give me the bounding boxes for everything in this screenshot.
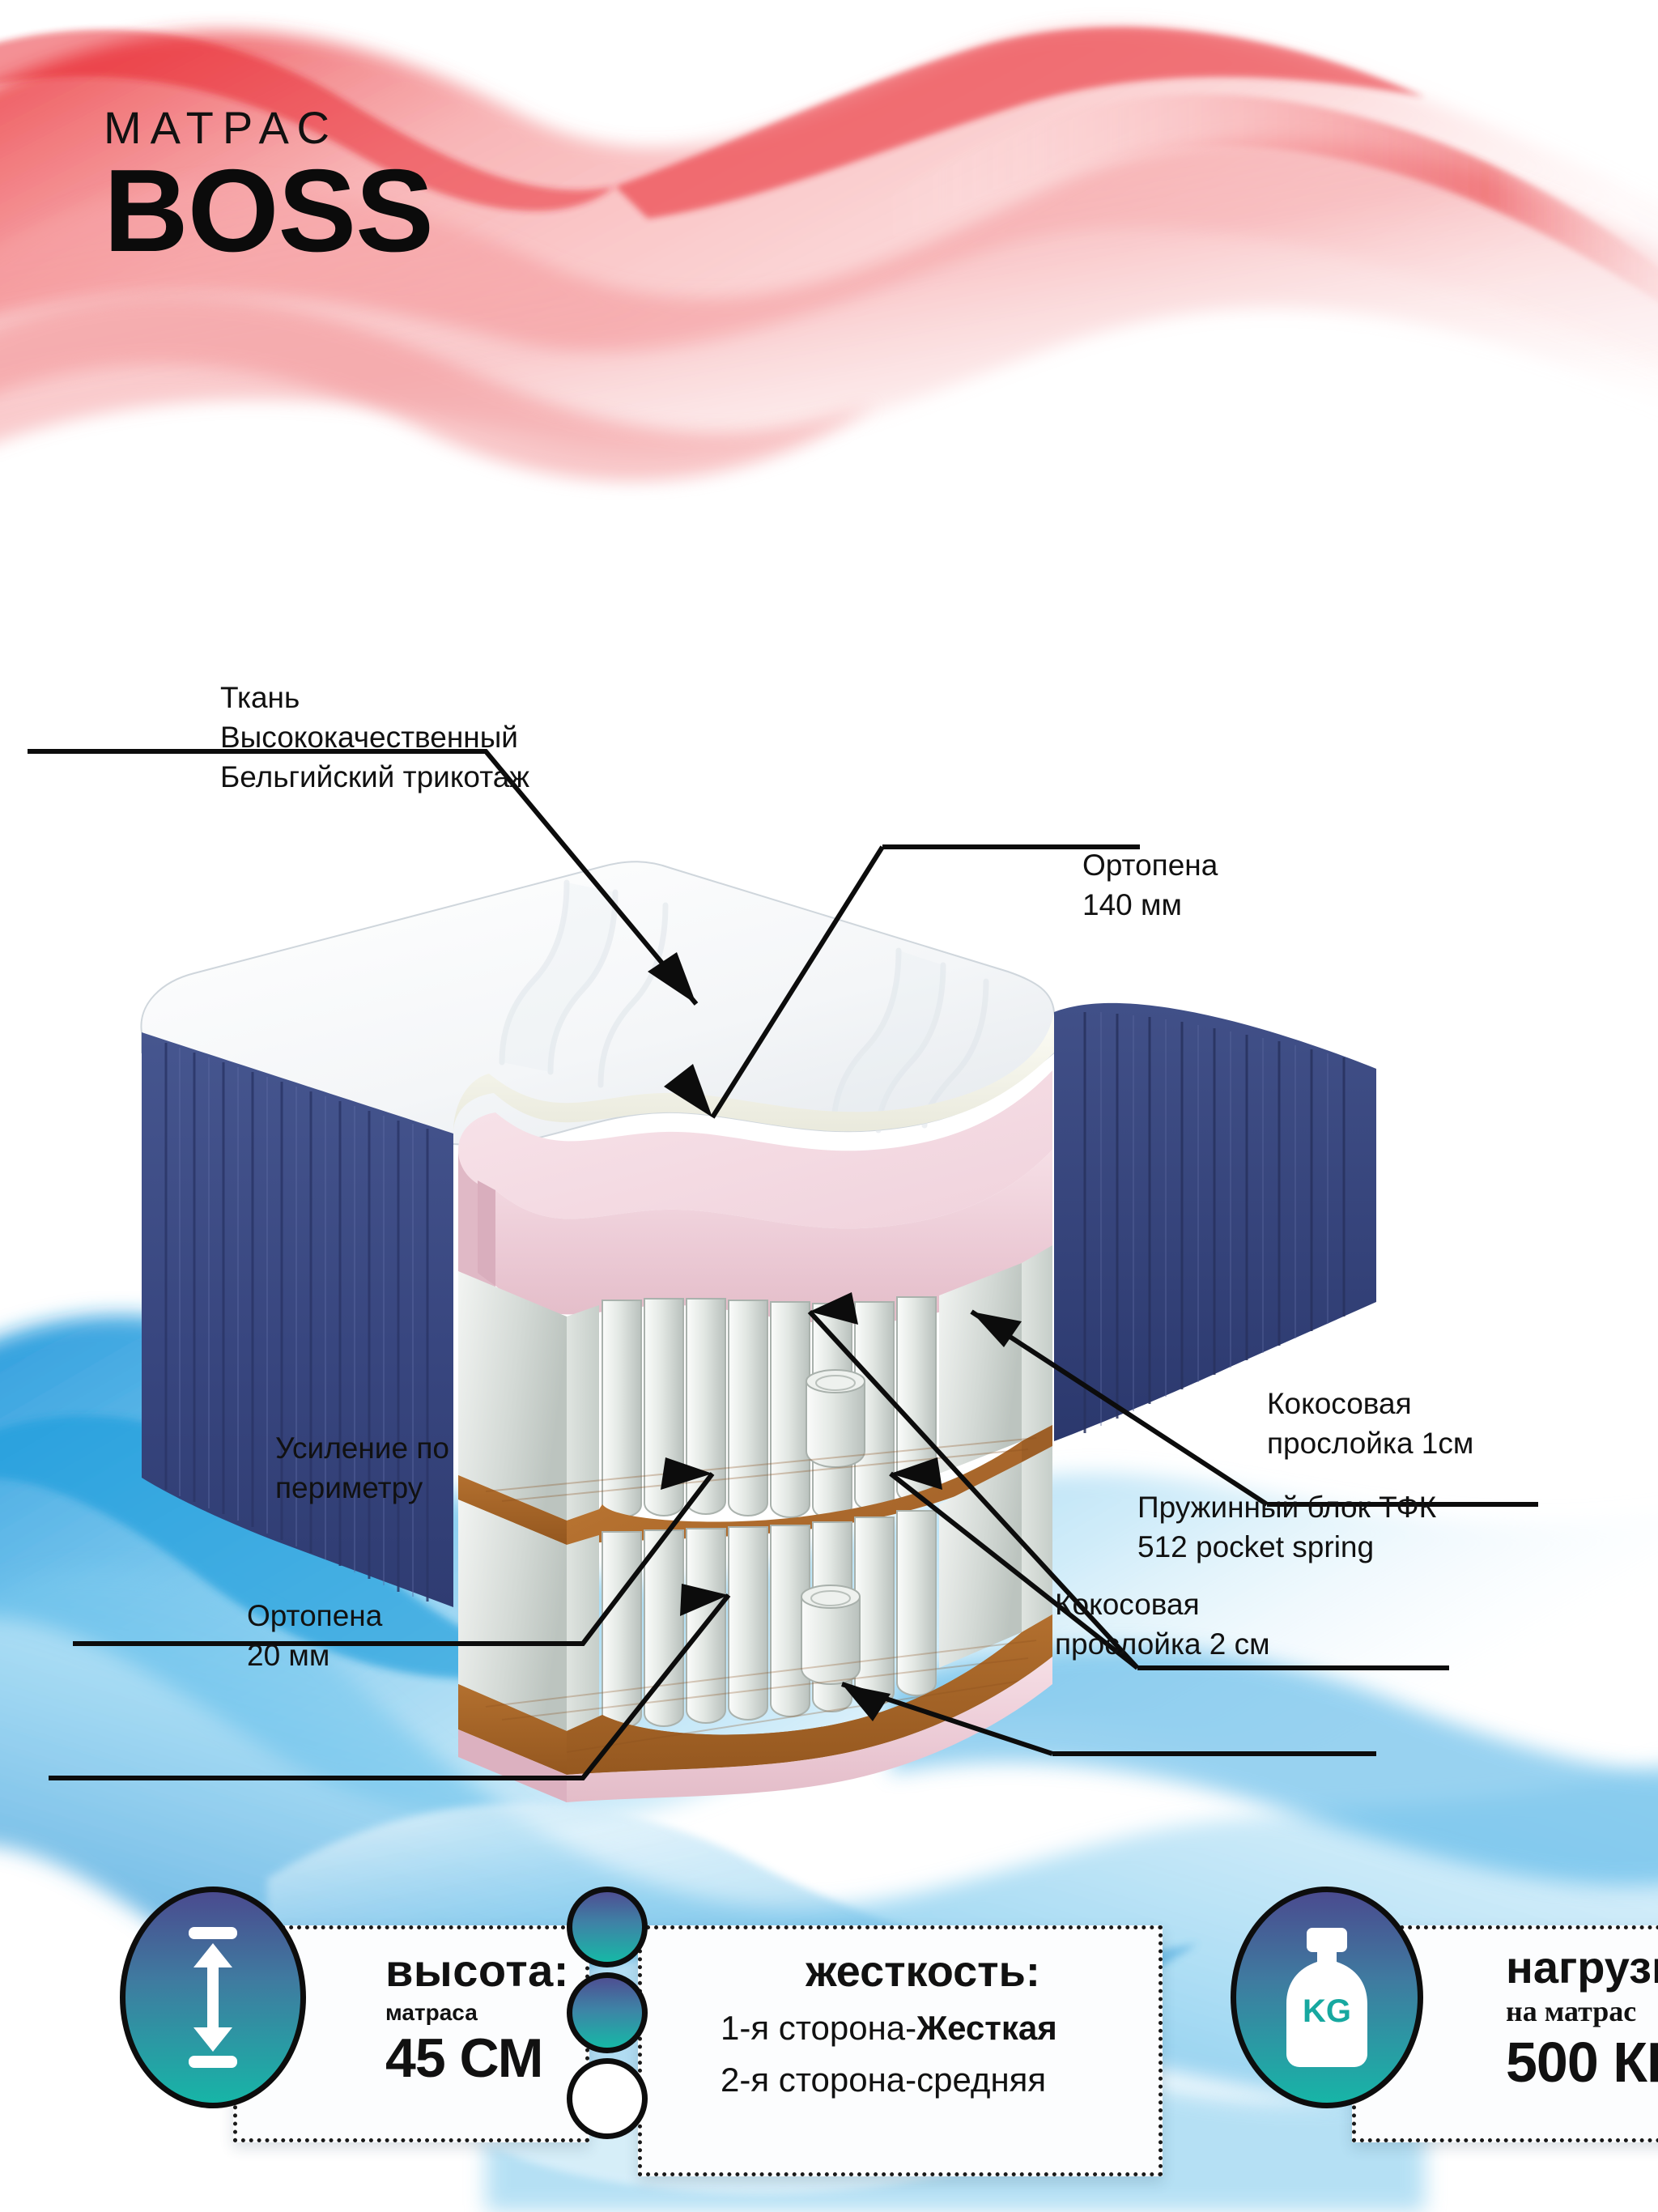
firmness-level-dots (567, 1887, 688, 2144)
badge-height-subtitle: матраса (385, 2001, 569, 2024)
callout-ortho-140: Ортопена 140 мм (1082, 846, 1218, 925)
callout-line: периметру (275, 1469, 449, 1508)
callout-line: Ортопена (247, 1597, 382, 1636)
firmness-side-1: 1-я сторона-Жесткая (721, 2011, 1125, 2045)
callout-ortho-20: Ортопена 20 мм (247, 1597, 382, 1676)
title-block: МАТРАС BOSS (104, 105, 433, 265)
badge-load-value: 500 КГ (1506, 2034, 1658, 2091)
callout-line: Пружинный блок ТФК (1137, 1488, 1436, 1528)
firmness-dot-1 (567, 1887, 648, 1967)
badge-load-title: нагрузка: (1506, 1945, 1658, 1990)
callout-line: Усиление по (275, 1429, 449, 1469)
callout-line: Кокосовая (1267, 1385, 1473, 1424)
detached-spring-upper (806, 1370, 865, 1467)
callout-perimeter-reinforcement: Усиление по периметру (275, 1429, 449, 1508)
callout-spring-block: Пружинный блок ТФК 512 pocket spring (1137, 1488, 1436, 1568)
callout-coir-1cm: Кокосовая прослойка 1см (1267, 1385, 1473, 1464)
mattress-side-left (142, 1032, 453, 1607)
height-arrow-icon (120, 1887, 306, 2108)
poster-canvas: МАТРАС BOSS (0, 0, 1658, 2212)
badge-height-title: высота: (385, 1948, 569, 1993)
callout-line: Кокосовая (1055, 1585, 1270, 1625)
firmness-side-1-prefix: 1-я сторона- (721, 2009, 916, 2047)
badge-height-value: 45 СМ (385, 2031, 569, 2086)
callout-line: 512 pocket spring (1137, 1528, 1436, 1568)
firmness-side-2-value: средняя (916, 2061, 1046, 2099)
firmness-side-1-value: Жесткая (916, 2009, 1057, 2047)
firmness-side-2-prefix: 2-я сторона- (721, 2061, 916, 2099)
svg-text:KG: KG (1303, 1993, 1351, 2029)
callout-line: Высококачественный (220, 718, 529, 758)
callout-line: 20 мм (247, 1636, 382, 1676)
callout-line: 140 мм (1082, 886, 1218, 925)
badge-load-subtitle: на матрас (1506, 1997, 1658, 2026)
detached-spring-lower (801, 1585, 860, 1684)
firmness-side-2: 2-я сторона-средняя (721, 2063, 1125, 2097)
badge-firmness-title: жесткость: (721, 1950, 1125, 1993)
callout-fabric: Ткань Высококачественный Бельгийский три… (220, 678, 529, 797)
firmness-dot-2 (567, 1972, 648, 2053)
brand-eyebrow: МАТРАС (104, 105, 433, 151)
firmness-dot-3 (567, 2058, 648, 2139)
spec-badges: высота: матраса 45 СМ жесткость: 1-я сто… (0, 1887, 1658, 2178)
callout-line: Бельгийский трикотаж (220, 758, 529, 798)
callout-line: прослойка 2 см (1055, 1625, 1270, 1665)
callout-line: прослойка 1см (1267, 1424, 1473, 1464)
callout-coir-2cm: Кокосовая прослойка 2 см (1055, 1585, 1270, 1665)
callout-line: Ткань (220, 678, 529, 718)
brand-name: BOSS (104, 157, 433, 265)
callout-line: Ортопена (1082, 846, 1218, 886)
weight-kg-icon: KG (1231, 1887, 1423, 2108)
